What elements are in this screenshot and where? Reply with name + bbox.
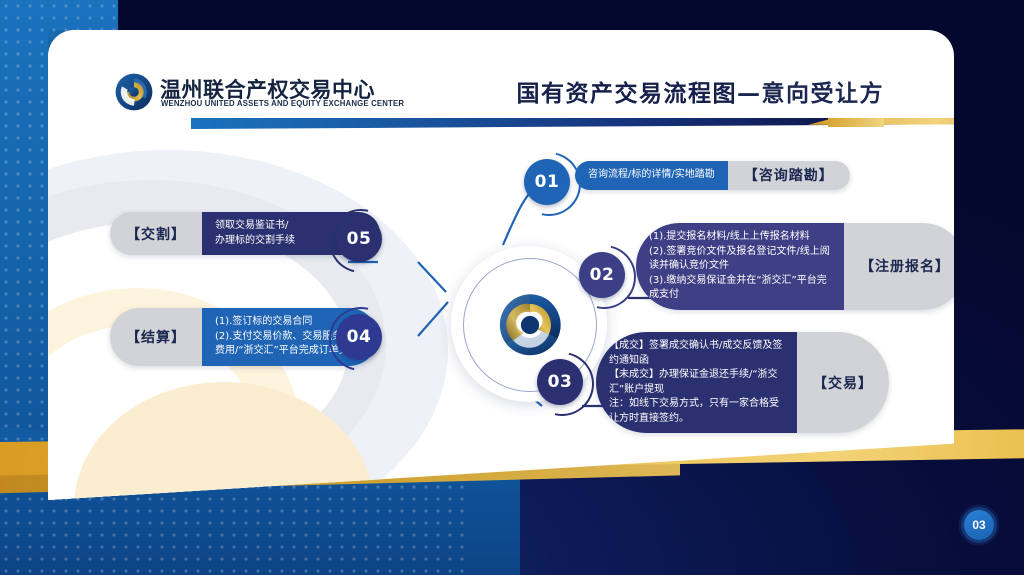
step-05-badge[interactable]: 05 xyxy=(336,216,382,262)
step-02-number: 02 xyxy=(590,265,615,285)
step-01-tag: 【咨询踏勘】 xyxy=(728,161,850,190)
step-02-body: (1).提交报名材料/线上上传报名材料 (2).签署竞价文件及报名登记文件/线上… xyxy=(636,223,844,310)
content-card: 温州联合产权交易中心 WENZHOU UNITED ASSETS AND EQU… xyxy=(48,30,954,500)
step-04-badge[interactable]: 04 xyxy=(336,314,382,360)
step-04-number: 04 xyxy=(347,327,372,347)
step-03-pill[interactable]: 【成交】签署成交确认书/成交反馈及签约通知函 【未成交】办理保证金退还手续/“浙… xyxy=(596,332,889,433)
step-02-pill[interactable]: (1).提交报名材料/线上上传报名材料 (2).签署竞价文件及报名登记文件/线上… xyxy=(636,223,954,310)
slide-root: 温州联合产权交易中心 WENZHOU UNITED ASSETS AND EQU… xyxy=(0,0,1024,575)
page-number-badge: 03 xyxy=(964,510,994,540)
step-02-badge[interactable]: 02 xyxy=(579,252,625,298)
step-01-number: 01 xyxy=(535,172,560,192)
step-03-number: 03 xyxy=(548,372,573,392)
step-04-tag: 【结算】 xyxy=(110,308,202,366)
step-03-body: 【成交】签署成交确认书/成交反馈及签约通知函 【未成交】办理保证金退还手续/“浙… xyxy=(596,332,797,433)
step-05-number: 05 xyxy=(347,229,372,249)
page-number: 03 xyxy=(972,518,985,532)
step-02-tag: 【注册报名】 xyxy=(844,223,954,310)
step-03-badge[interactable]: 03 xyxy=(537,359,583,405)
content-card-inner: 温州联合产权交易中心 WENZHOU UNITED ASSETS AND EQU… xyxy=(48,30,954,500)
step-05-tag: 【交割】 xyxy=(110,212,202,255)
center-logo-icon xyxy=(495,290,565,360)
step-01-pill[interactable]: 咨询流程/标的详情/实地踏勘 【咨询踏勘】 xyxy=(575,161,850,190)
step-01-badge[interactable]: 01 xyxy=(524,159,570,205)
step-01-body: 咨询流程/标的详情/实地踏勘 xyxy=(575,161,728,190)
